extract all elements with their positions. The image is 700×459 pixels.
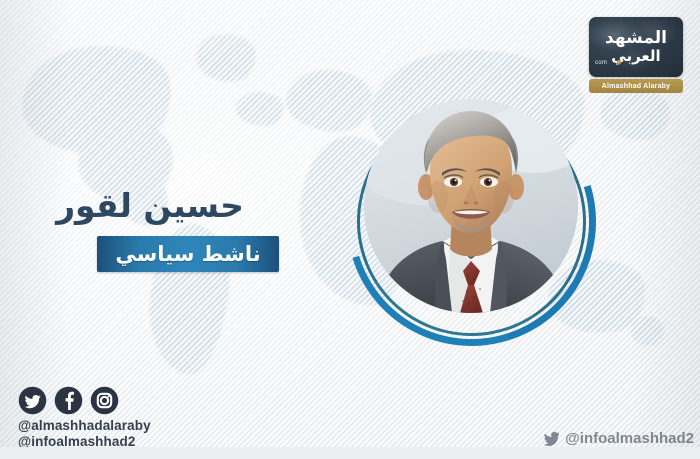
portrait-photo: [364, 99, 578, 313]
logo-com-label: com: [595, 60, 607, 66]
social-block: @almashhadalaraby @infoalmashhad2: [18, 386, 151, 450]
brand-logo[interactable]: المشهد العربي com Almashhad Alaraby: [589, 17, 683, 95]
person-title-text: ناشط سياسي: [115, 242, 260, 266]
portrait-frame: [347, 97, 596, 346]
watermark-handle: @infoalmashhad2: [565, 430, 694, 447]
person-title-badge: ناشط سياسي: [97, 236, 279, 272]
social-handles: @almashhadalaraby @infoalmashhad2: [18, 418, 151, 450]
facebook-icon[interactable]: [54, 386, 83, 415]
twitter-icon: [543, 430, 560, 447]
logo-dot-icon: [617, 60, 621, 64]
instagram-icon[interactable]: [90, 386, 119, 415]
logo-box: المشهد العربي com: [589, 17, 683, 77]
logo-caption: Almashhad Alaraby: [589, 79, 683, 93]
watermark: @infoalmashhad2: [543, 429, 694, 447]
bottom-strip: [0, 447, 700, 459]
twitter-icon[interactable]: [18, 386, 47, 415]
logo-arabic-line1: المشهد: [605, 30, 667, 47]
social-icon-row: [18, 386, 151, 415]
handle-primary: @almashhadalaraby: [18, 418, 151, 434]
social-media-card: المشهد العربي com Almashhad Alaraby: [0, 0, 700, 459]
person-name: حسين لقور: [0, 186, 300, 225]
